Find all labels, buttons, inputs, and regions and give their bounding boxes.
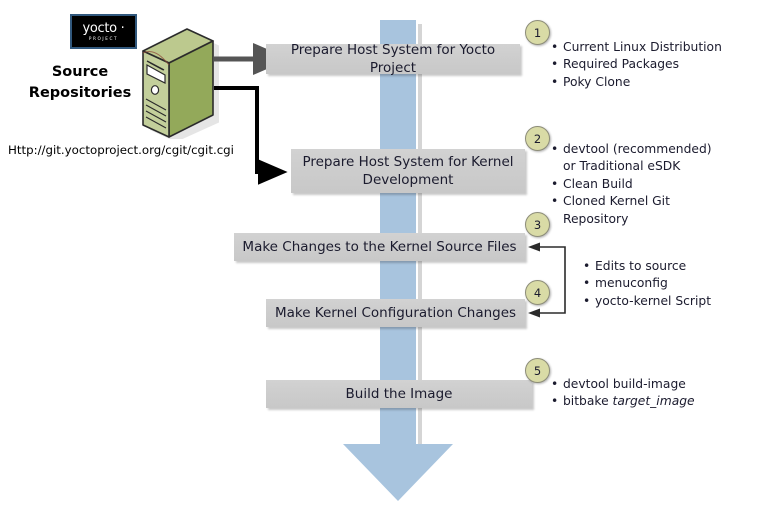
bracket-arrowhead-step3	[528, 243, 540, 252]
server-tower-icon	[133, 27, 219, 139]
bullet-item: Clean Build	[551, 176, 723, 193]
bullet-item: Edits to source	[583, 258, 763, 275]
steps-3-4-shared-bullets: Edits to source menuconfig yocto-kernel …	[583, 258, 763, 310]
source-repositories-label: Source Repositories	[20, 62, 140, 104]
step-5-bullets: devtool build-image bitbake target_image	[551, 376, 751, 411]
bracket-arrowhead-step4	[528, 309, 540, 318]
step-number-3: 3	[525, 212, 550, 237]
yocto-logo-subtext: PROJECT	[89, 37, 118, 41]
step-1-bullets: Current Linux Distribution Required Pack…	[551, 39, 756, 91]
step-number-1: 1	[525, 20, 550, 45]
step-number-4: 4	[525, 280, 550, 305]
diagram-canvas: yocto · PROJECT Source Repositories Http…	[0, 0, 769, 517]
step-number-5: 5	[525, 358, 550, 383]
bullet-item: menuconfig	[583, 275, 763, 292]
step-box-4[interactable]: Make Kernel Configuration Changes	[266, 299, 525, 327]
bullet-item: Required Packages	[551, 56, 756, 73]
bullet-item: devtool (recommended) or Traditional eSD…	[551, 141, 723, 176]
step-box-1[interactable]: Prepare Host System for Yocto Project	[266, 44, 520, 74]
arrow-server-to-step2	[214, 88, 262, 172]
source-repositories-url: Http://git.yoctoproject.org/cgit/cgit.cg…	[8, 143, 234, 157]
bullet-item: yocto-kernel Script	[583, 293, 763, 310]
step-box-5[interactable]: Build the Image	[266, 380, 532, 408]
bullet-item: Poky Clone	[551, 74, 756, 91]
step-box-3[interactable]: Make Changes to the Kernel Source Files	[234, 233, 525, 261]
bullet-item: Current Linux Distribution	[551, 39, 756, 56]
yocto-logo-wordmark: yocto ·	[82, 22, 124, 35]
flow-arrow-head	[343, 444, 453, 501]
yocto-project-logo: yocto · PROJECT	[70, 14, 137, 49]
bullet-bitbake-text: bitbake	[563, 394, 613, 408]
step-box-2[interactable]: Prepare Host System for Kernel Developme…	[291, 149, 525, 193]
step-2-bullets: devtool (recommended) or Traditional eSD…	[551, 141, 723, 228]
bullet-item: devtool build-image	[551, 376, 751, 393]
bullet-item-bitbake: bitbake target_image	[551, 393, 751, 410]
step-number-2: 2	[525, 126, 550, 151]
bullet-item: Cloned Kernel Git Repository	[551, 193, 723, 228]
bullet-bitbake-target: target_image	[613, 394, 695, 408]
